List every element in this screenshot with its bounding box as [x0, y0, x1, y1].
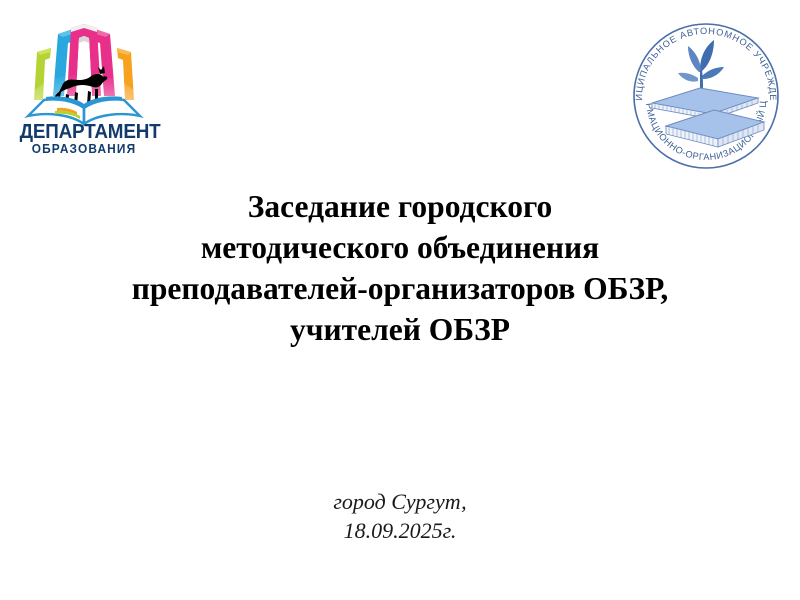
footer-city: город Сургут,	[40, 487, 760, 516]
title-line-1: Заседание городского	[40, 186, 760, 227]
title-line-2: методического объединения	[40, 227, 760, 268]
presentation-slide: ДЕПАРТАМЕНТ ОБРАЗОВАНИЯ МУНИЦИПАЛЬНОЕ АВ…	[0, 0, 800, 600]
mau-information-organizational-center-seal: МУНИЦИПАЛЬНОЕ АВТОНОМНОЕ УЧРЕЖДЕНИЕ ИНФО…	[622, 8, 790, 176]
title-line-3: преподавателей-организаторов ОБЗР,	[40, 268, 760, 309]
footer-date: 18.09.2025г.	[40, 516, 760, 545]
sprout-leaf-icon	[678, 40, 724, 90]
slide-title: Заседание городского методического объед…	[40, 186, 760, 350]
title-line-4: учителей ОБЗР	[40, 309, 760, 350]
slide-footer: город Сургут, 18.09.2025г.	[40, 487, 760, 545]
department-logo-word-top: ДЕПАРТАМЕНТ	[20, 122, 149, 143]
department-logo-word-bottom: ОБРАЗОВАНИЯ	[18, 143, 151, 156]
seal-graphic: МУНИЦИПАЛЬНОЕ АВТОНОМНОЕ УЧРЕЖДЕНИЕ ИНФО…	[622, 8, 790, 176]
department-of-education-logo: ДЕПАРТАМЕНТ ОБРАЗОВАНИЯ	[14, 8, 154, 160]
